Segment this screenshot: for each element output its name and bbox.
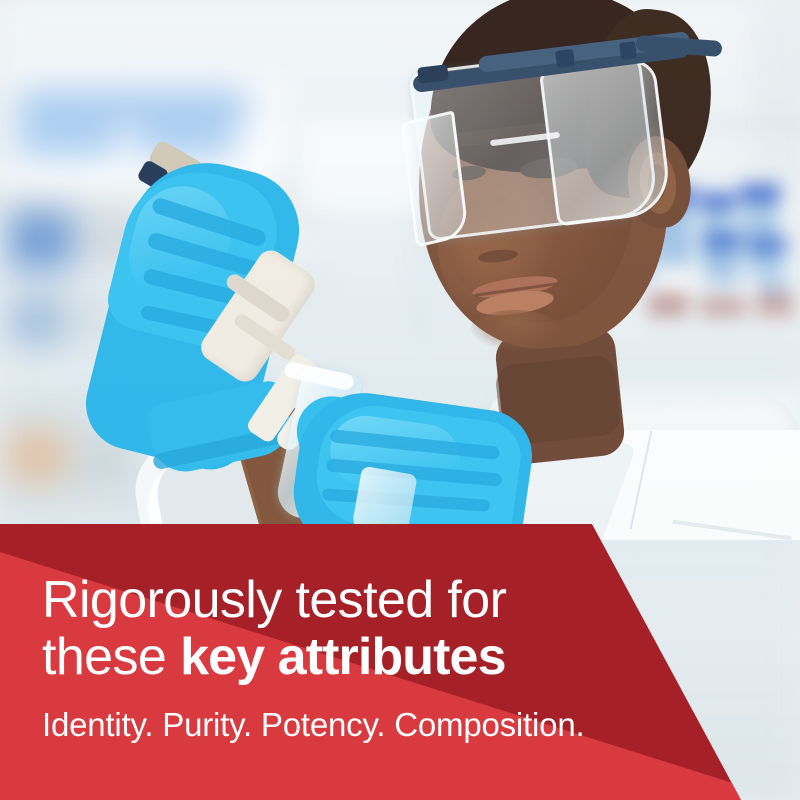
headline-line-1: Rigorously tested for xyxy=(42,572,506,629)
headline-line-2: these key attributes xyxy=(42,629,506,686)
promo-graphic: Rigorously tested for these key attribut… xyxy=(0,0,800,800)
headline-light-text: these xyxy=(42,628,180,686)
subhead-attributes: Identity. Purity. Potency. Composition. xyxy=(42,706,584,744)
banner-text-block: Rigorously tested for these key attribut… xyxy=(0,524,800,800)
headline-bold-text: key attributes xyxy=(180,628,506,686)
